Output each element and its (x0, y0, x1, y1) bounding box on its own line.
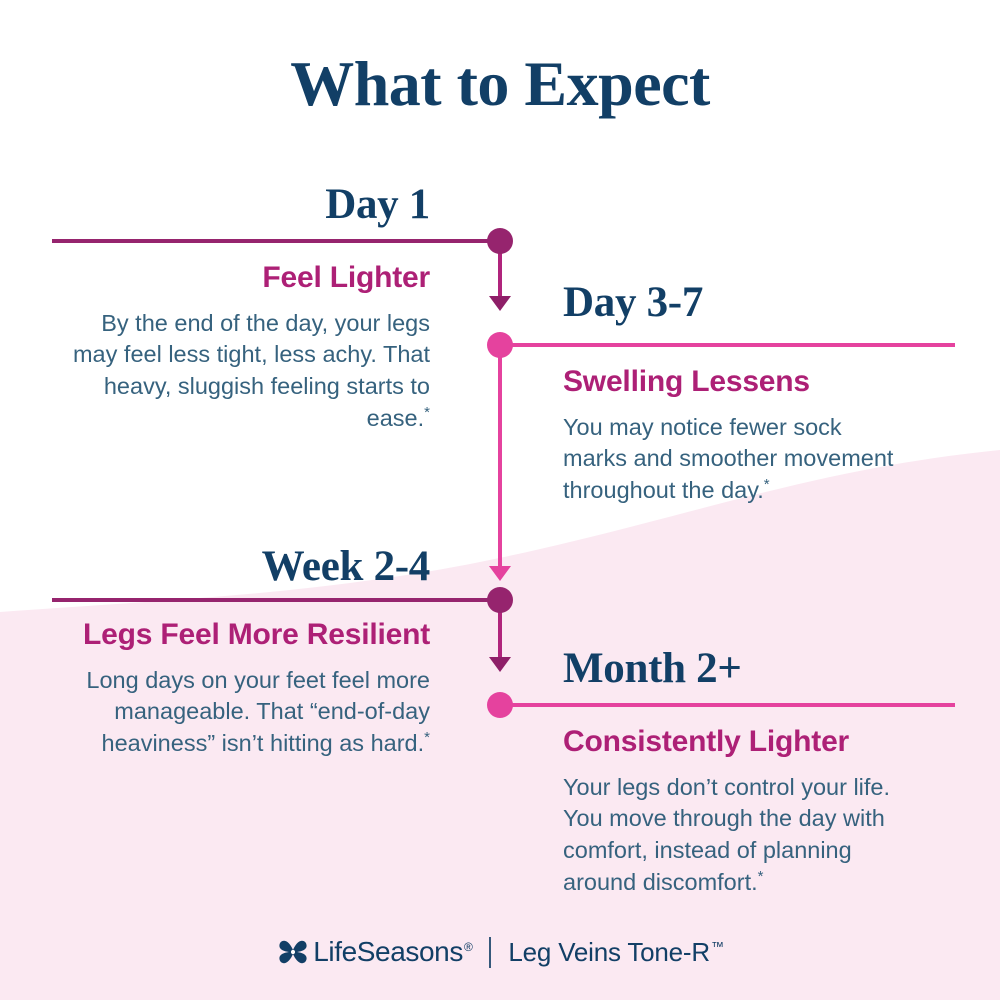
timeline-node-2[interactable] (487, 332, 513, 358)
timeline-body-text-2: You may notice fewer sock marks and smoo… (563, 414, 893, 503)
timeline-entry-1-content: Feel Lighter By the end of the day, your… (70, 261, 430, 434)
timeline-footnote-2: * (764, 476, 770, 493)
timeline-entry-4-content: Consistently Lighter Your legs don’t con… (563, 725, 923, 898)
brand-name: LifeSeasons ® (313, 936, 472, 968)
timeline-body-1: By the end of the day, your legs may fee… (70, 308, 430, 435)
timeline-rule-1 (52, 239, 500, 243)
timeline-entry-2-content: Swelling Lessens You may notice fewer so… (563, 365, 903, 507)
footer-branding: LifeSeasons ® Leg Veins Tone-R ™ (0, 928, 1000, 976)
timeline-node-1[interactable] (487, 228, 513, 254)
timeline-body-3: Long days on your feet feel more managea… (40, 665, 430, 760)
brand-registered-mark: ® (464, 940, 472, 954)
timeline-heading-2: Swelling Lessens (563, 365, 903, 399)
timeline-footnote-1: * (424, 404, 430, 421)
timeline-node-4[interactable] (487, 692, 513, 718)
timeline-footnote-3: * (424, 729, 430, 746)
connector-arrow-3-4 (489, 657, 511, 672)
timeline-entry-1: Day 1 (80, 183, 430, 226)
timeline-heading-4: Consistently Lighter (563, 725, 923, 759)
timeline-stage-label-3: Week 2-4 (80, 545, 430, 588)
timeline-rule-3 (52, 598, 500, 602)
timeline-rule-4 (500, 703, 955, 707)
page-title: What to Expect (0, 50, 1000, 117)
timeline-entry-2: Day 3-7 (563, 281, 963, 324)
connector-arrow-2-3 (489, 566, 511, 581)
footer-divider (489, 937, 491, 968)
timeline-body-text-1: By the end of the day, your legs may fee… (73, 310, 430, 431)
timeline-entry-3: Week 2-4 (80, 545, 430, 588)
timeline-rule-2 (500, 343, 955, 347)
brand-name-text: LifeSeasons (313, 936, 463, 968)
timeline-body-4: Your legs don’t control your life. You m… (563, 772, 923, 899)
connector-arrow-1-2 (489, 296, 511, 311)
timeline-stage-label-2: Day 3-7 (563, 281, 963, 324)
timeline-footnote-4: * (758, 868, 764, 885)
timeline-entry-4: Month 2+ (563, 647, 963, 690)
timeline-body-text-4: Your legs don’t control your life. You m… (563, 774, 890, 895)
timeline-entry-3-content: Legs Feel More Resilient Long days on yo… (40, 618, 430, 760)
timeline-node-3[interactable] (487, 587, 513, 613)
timeline-stage-label-4: Month 2+ (563, 647, 963, 690)
timeline-stage-label-1: Day 1 (80, 183, 430, 226)
product-trademark-mark: ™ (711, 939, 724, 954)
product-name: Leg Veins Tone-R ™ (508, 937, 723, 968)
timeline-body-text-3: Long days on your feet feel more managea… (86, 667, 430, 756)
timeline-heading-1: Feel Lighter (70, 261, 430, 295)
product-name-text: Leg Veins Tone-R (508, 937, 710, 968)
timeline-heading-3: Legs Feel More Resilient (40, 618, 430, 652)
connector-line-2-3 (498, 345, 502, 570)
lifeseasons-pinwheel-logo-icon (276, 935, 310, 969)
timeline-body-2: You may notice fewer sock marks and smoo… (563, 412, 903, 507)
